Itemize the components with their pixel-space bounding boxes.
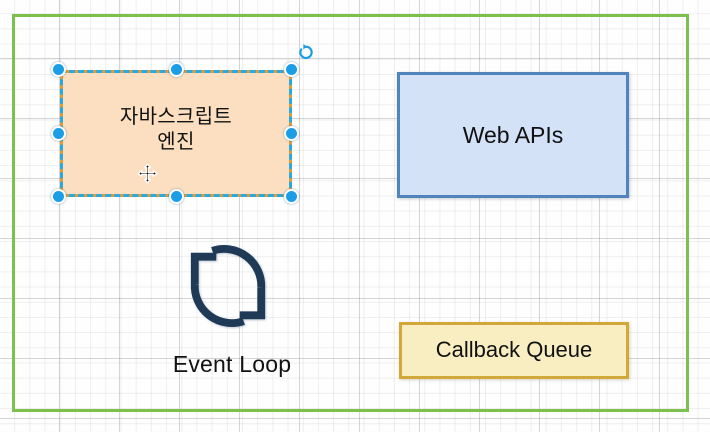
shape-label-line-1: 자바스크립트: [120, 105, 232, 129]
circular-arrows-icon: [178, 243, 278, 329]
shape-web-apis[interactable]: Web APIs: [397, 72, 629, 198]
resize-handle-top-center[interactable]: [169, 62, 184, 77]
shape-javascript-engine[interactable]: 자바스크립트 엔진: [60, 70, 292, 197]
shape-callback-queue-label: Callback Queue: [436, 337, 593, 364]
resize-handle-top-left[interactable]: [51, 62, 66, 77]
shape-label-line-2: 엔진: [120, 130, 232, 154]
shape-callback-queue[interactable]: Callback Queue: [399, 322, 629, 379]
resize-handle-middle-right[interactable]: [284, 126, 299, 141]
event-loop-group[interactable]: Event Loop: [160, 243, 305, 393]
resize-handle-bottom-left[interactable]: [51, 189, 66, 204]
resize-handle-bottom-center[interactable]: [169, 189, 184, 204]
resize-handle-bottom-right[interactable]: [284, 189, 299, 204]
rotate-icon[interactable]: [297, 43, 315, 61]
shape-web-apis-label: Web APIs: [463, 121, 564, 149]
shape-javascript-engine-label: 자바스크립트 엔진: [120, 105, 232, 154]
resize-handle-middle-left[interactable]: [51, 126, 66, 141]
diagram-canvas-app: Web APIs Callback Queue Event Loop 자바스크립…: [0, 0, 710, 432]
resize-handle-top-right[interactable]: [284, 62, 299, 77]
event-loop-label: Event Loop: [132, 351, 332, 378]
